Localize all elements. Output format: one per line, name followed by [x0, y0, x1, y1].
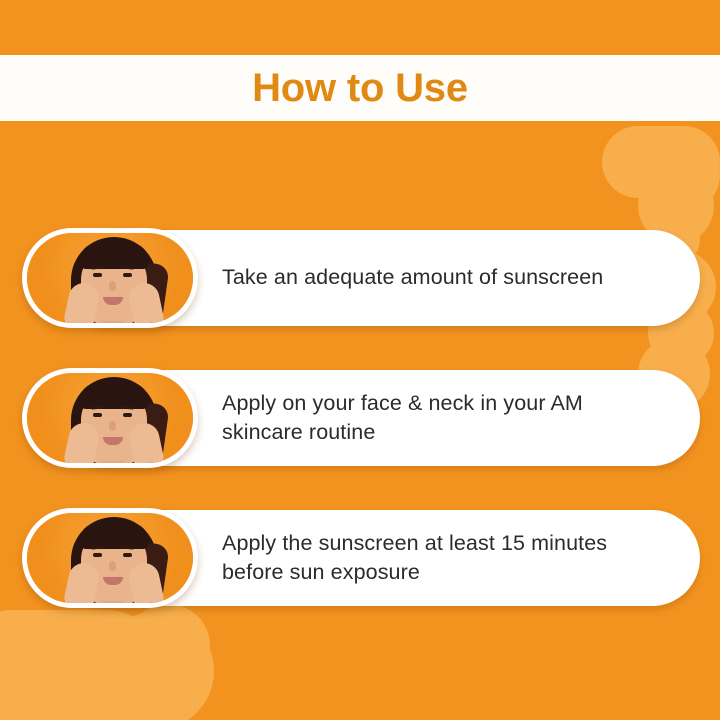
- fringe-shape: [79, 383, 149, 409]
- list-item[interactable]: Apply the sunscreen at least 15 minutes …: [22, 508, 700, 608]
- how-to-use-poster: How to Use Take an adequate amount of su…: [0, 0, 720, 720]
- list-item[interactable]: Take an adequate amount of sunscreen: [22, 228, 700, 328]
- eye-left: [93, 273, 102, 277]
- eye-left: [93, 553, 102, 557]
- step-text: Take an adequate amount of sunscreen: [222, 263, 603, 292]
- eye-right: [123, 413, 132, 417]
- title-band: How to Use: [0, 55, 720, 121]
- woman-applying-sunscreen-image: [27, 373, 193, 463]
- eye-left: [93, 413, 102, 417]
- neck-shape: [99, 461, 127, 463]
- fringe-shape: [79, 523, 149, 549]
- nose-shape: [109, 281, 116, 291]
- nose-shape: [109, 421, 116, 431]
- step-thumbnail: [22, 368, 198, 468]
- fringe-shape: [79, 243, 149, 269]
- nose-shape: [109, 561, 116, 571]
- woman-applying-sunscreen-image: [27, 233, 193, 323]
- step-thumbnail: [22, 508, 198, 608]
- neck-shape: [99, 601, 127, 603]
- page-title: How to Use: [252, 68, 468, 108]
- neck-shape: [99, 321, 127, 323]
- eye-right: [123, 273, 132, 277]
- list-item[interactable]: Apply on your face & neck in your AM ski…: [22, 368, 700, 468]
- woman-applying-sunscreen-image: [27, 513, 193, 603]
- step-thumbnail: [22, 228, 198, 328]
- eye-right: [123, 553, 132, 557]
- step-text: Apply the sunscreen at least 15 minutes …: [222, 529, 666, 587]
- step-text: Apply on your face & neck in your AM ski…: [222, 389, 666, 447]
